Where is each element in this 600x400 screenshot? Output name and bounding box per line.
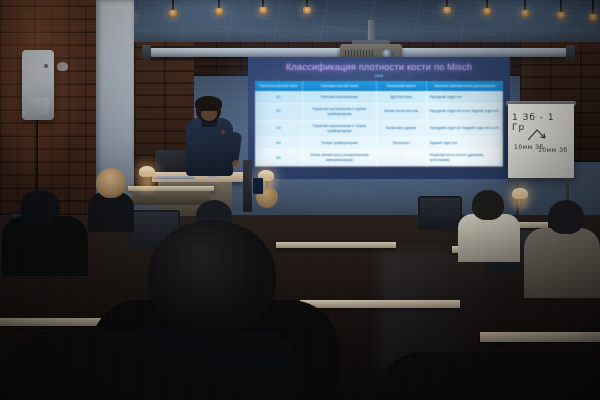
bone-density-table: Плотность костной ткани Описание костной… (255, 81, 503, 167)
column-header-density: Плотность костной ткани (255, 81, 302, 91)
cell-location: Передний отдел в/ч и н/ч Задний отдел н/… (426, 103, 503, 120)
cell-analog: Пенопласт (377, 137, 427, 149)
cell-analog: Белая сосна или ель (377, 103, 427, 120)
student-desk (276, 242, 396, 248)
pendant-light (172, 0, 174, 11)
attendee-phone (253, 178, 263, 194)
cell-analog: - (377, 149, 427, 166)
pendant-light (592, 0, 594, 15)
pendant-light (524, 0, 526, 11)
student-desk (0, 318, 110, 326)
slide-subtitle: Denti (248, 74, 510, 78)
column-header-analog: Тактильный аналог (377, 81, 427, 91)
ceiling-glow-left (120, 0, 320, 40)
wall-mounted-speaker (22, 50, 54, 120)
table-row: D4 Тонкая трабекулярная Пенопласт Задний… (255, 137, 503, 149)
attendee-silhouette-center-head (148, 220, 276, 330)
cell-code: D2 (255, 103, 302, 120)
pendant-light (262, 0, 264, 8)
cell-description: Тонкая трабекулярная (302, 137, 376, 149)
cell-location: Незрелая кость (после удаления, остеотом… (426, 149, 503, 166)
attendee-foreground-dark (2, 216, 88, 276)
desk-lamp-glow (506, 192, 534, 212)
table-row: D1 Плотная кортикальная Дуб или клен Пер… (255, 91, 503, 103)
cell-code: D3 (255, 120, 302, 137)
presenter-hair (195, 96, 222, 111)
cell-code: D4 (255, 137, 302, 149)
cell-location: Передний отдел н/ч (426, 91, 503, 103)
speaker-grill (27, 98, 49, 114)
column-header-description: Описание костной ткани (302, 81, 376, 91)
foreground-shadow (0, 330, 300, 400)
floor-speaker (243, 160, 252, 212)
attendee-right-foreground (524, 228, 600, 298)
speaker-cable (36, 120, 38, 198)
projector-mount-stem (368, 20, 375, 42)
cell-description: Пористая кортикальная и грубая трабекуля… (302, 103, 376, 120)
roller-bracket-left (142, 45, 151, 60)
pendant-light (446, 0, 448, 8)
attendee-blonde-left (88, 192, 134, 232)
projection-screen: Классификация плотности кости по Misch D… (248, 57, 510, 179)
presenter-hand (232, 160, 241, 168)
cell-analog: Дуб или клен (377, 91, 427, 103)
table-row: D2 Пористая кортикальная и грубая трабек… (255, 103, 503, 120)
pendant-light (218, 0, 220, 9)
slide-title: Классификация плотности кости по Misch (248, 62, 510, 72)
column-header-location: Типичное анатомическое расположение (426, 81, 503, 91)
speaker-indicator-icon (44, 64, 48, 68)
attendee-blonde-left-head (96, 168, 126, 198)
attendee-right-foreground-head (548, 200, 584, 234)
flipchart-line-3: 10мм Зб (538, 147, 570, 154)
cell-description: Плотная кортикальная (302, 91, 376, 103)
security-camera-icon (57, 62, 68, 71)
cell-location: Передний отдел в/ч Задний отдел в/ч и н/… (426, 120, 503, 137)
flipchart-arrow-icon (526, 128, 548, 142)
lecture-room-photo: Классификация плотности кости по Misch D… (0, 0, 600, 400)
pendant-light (560, 0, 562, 13)
cell-code: D5 (255, 149, 302, 166)
table-header-row: Плотность костной ткани Описание костной… (255, 81, 503, 91)
desk-lamp-glow (132, 172, 162, 194)
pendant-light (486, 0, 488, 9)
presenter-shirt-logo (221, 130, 225, 134)
chair (418, 196, 462, 230)
roller-bracket-right (566, 45, 575, 60)
student-desk (300, 300, 460, 308)
cell-description: Очень мягкая кость (незаконченная минера… (302, 149, 376, 166)
table-row: D3 Пористая кортикальная и тонкая трабек… (255, 120, 503, 137)
cell-description: Пористая кортикальная и тонкая трабекуля… (302, 120, 376, 137)
cell-location: Задний отдел в/ч (426, 137, 503, 149)
attendee-foreground-dark-head (20, 190, 60, 224)
attendee-white-shirt-right-head (472, 190, 504, 220)
cell-code: D1 (255, 91, 302, 103)
table-row: D5 Очень мягкая кость (незаконченная мин… (255, 149, 503, 166)
cell-analog: Бальсовое дерево (377, 120, 427, 137)
attendee-white-shirt-right (458, 214, 520, 262)
student-desk (480, 332, 600, 342)
foreground-shadow (380, 352, 600, 400)
pendant-light (306, 0, 308, 8)
